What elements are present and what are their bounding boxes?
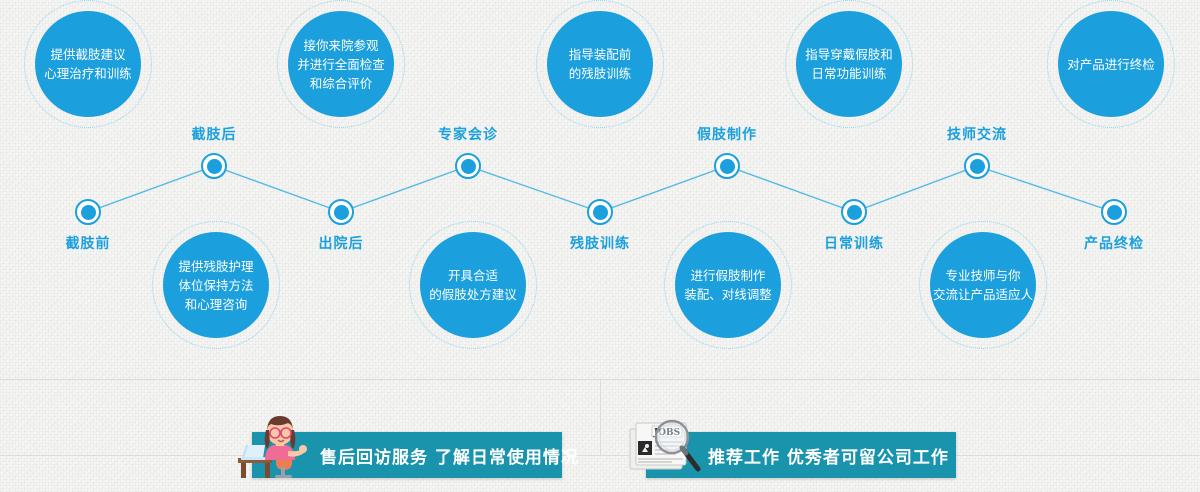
bubble-technician-exchange-line: 专业技师与你 [933, 266, 1033, 285]
bubble-pre-amputation-text: 提供截肢建议心理治疗和训练 [35, 11, 141, 117]
bubble-stump-training[interactable]: 指导装配前的残肢训练 [536, 0, 664, 128]
bubble-post-amputation-line: 提供残肢护理 [178, 257, 253, 276]
bubble-expert-consult-line: 开具合适 [429, 266, 517, 285]
bubble-post-discharge-line: 并进行全面检查 [297, 55, 385, 74]
banner-aftersales-label: 售后回访服务 了解日常使用情况 [320, 443, 579, 468]
bubble-daily-training-text: 指导穿戴假肢和日常功能训练 [796, 11, 902, 117]
banner-aftersales-service[interactable]: 售后回访服务 了解日常使用情况 [252, 432, 562, 478]
banner-connector-right [954, 455, 1200, 456]
flow-node-final-inspection[interactable] [1101, 199, 1127, 225]
bubble-pre-amputation[interactable]: 提供截肢建议心理治疗和训练 [24, 0, 152, 128]
bubble-technician-exchange[interactable]: 专业技师与你交流让产品适应人 [919, 221, 1047, 349]
bubble-daily-training-line: 日常功能训练 [805, 64, 893, 83]
banner-job-recommendation[interactable]: 推荐工作 优秀者可留公司工作 [646, 432, 956, 478]
bubble-post-discharge-text: 接你来院参观并进行全面检查和综合评价 [288, 11, 394, 117]
bubble-post-discharge[interactable]: 接你来院参观并进行全面检查和综合评价 [277, 0, 405, 128]
flow-node-label-prosthesis-making: 假肢制作 [697, 124, 757, 144]
flow-node-post-amputation[interactable] [201, 153, 227, 179]
bubble-final-inspection[interactable]: 对产品进行终检 [1047, 0, 1175, 128]
bubble-expert-consult-text: 开具合适的假肢处方建议 [420, 232, 526, 338]
banner-jobs-label: 推荐工作 优秀者可留公司工作 [708, 443, 949, 468]
bubble-stump-training-line: 的残肢训练 [569, 64, 632, 83]
bubble-post-amputation-line: 和心理咨询 [178, 295, 253, 314]
bubble-technician-exchange-text: 专业技师与你交流让产品适应人 [930, 232, 1036, 338]
bubble-prosthesis-making-line: 进行假肢制作 [684, 266, 772, 285]
banner-connector-left [0, 455, 258, 456]
flow-node-technician-exchange[interactable] [964, 153, 990, 179]
flow-node-daily-training[interactable] [841, 199, 867, 225]
bubble-prosthesis-making-text: 进行假肢制作装配、对线调整 [675, 232, 781, 338]
bubble-daily-training-line: 指导穿戴假肢和 [805, 45, 893, 64]
bubble-post-discharge-line: 接你来院参观 [297, 36, 385, 55]
bubble-final-inspection-line: 对产品进行终检 [1067, 55, 1155, 74]
flow-node-label-expert-consult: 专家会诊 [438, 124, 498, 144]
flow-node-prosthesis-making[interactable] [714, 153, 740, 179]
bubble-pre-amputation-line: 提供截肢建议 [44, 45, 132, 64]
bubble-daily-training[interactable]: 指导穿戴假肢和日常功能训练 [785, 0, 913, 128]
bubble-final-inspection-text: 对产品进行终检 [1058, 11, 1164, 117]
bubble-expert-consult-line: 的假肢处方建议 [429, 285, 517, 304]
flow-node-label-technician-exchange: 技师交流 [947, 124, 1007, 144]
flow-node-label-daily-training: 日常训练 [824, 233, 884, 253]
flow-node-label-stump-training: 残肢训练 [570, 233, 630, 253]
flow-node-pre-amputation[interactable] [75, 199, 101, 225]
flow-node-expert-consult[interactable] [455, 153, 481, 179]
bubble-prosthesis-making-line: 装配、对线调整 [684, 285, 772, 304]
bubble-pre-amputation-line: 心理治疗和训练 [44, 64, 132, 83]
bubble-post-discharge-line: 和综合评价 [297, 74, 385, 93]
bubble-technician-exchange-line: 交流让产品适应人 [933, 285, 1033, 304]
flow-diagram-stage: 截肢前截肢后出院后专家会诊残肢训练假肢制作日常训练技师交流产品终检 提供截肢建议… [0, 0, 1200, 492]
flow-node-label-post-discharge: 出院后 [319, 233, 364, 253]
center-drop-line [600, 379, 601, 455]
bubble-expert-consult[interactable]: 开具合适的假肢处方建议 [409, 221, 537, 349]
bubble-post-amputation-line: 体位保持方法 [178, 276, 253, 295]
bubble-post-amputation[interactable]: 提供残肢护理体位保持方法和心理咨询 [152, 221, 280, 349]
flow-node-post-discharge[interactable] [328, 199, 354, 225]
flow-node-label-post-amputation: 截肢后 [192, 124, 237, 144]
flow-node-label-final-inspection: 产品终检 [1084, 233, 1144, 253]
flow-node-label-pre-amputation: 截肢前 [66, 233, 111, 253]
bubble-post-amputation-text: 提供残肢护理体位保持方法和心理咨询 [163, 232, 269, 338]
bubble-stump-training-text: 指导装配前的残肢训练 [547, 11, 653, 117]
flow-node-stump-training[interactable] [587, 199, 613, 225]
bubble-stump-training-line: 指导装配前 [569, 45, 632, 64]
bubble-prosthesis-making[interactable]: 进行假肢制作装配、对线调整 [664, 221, 792, 349]
